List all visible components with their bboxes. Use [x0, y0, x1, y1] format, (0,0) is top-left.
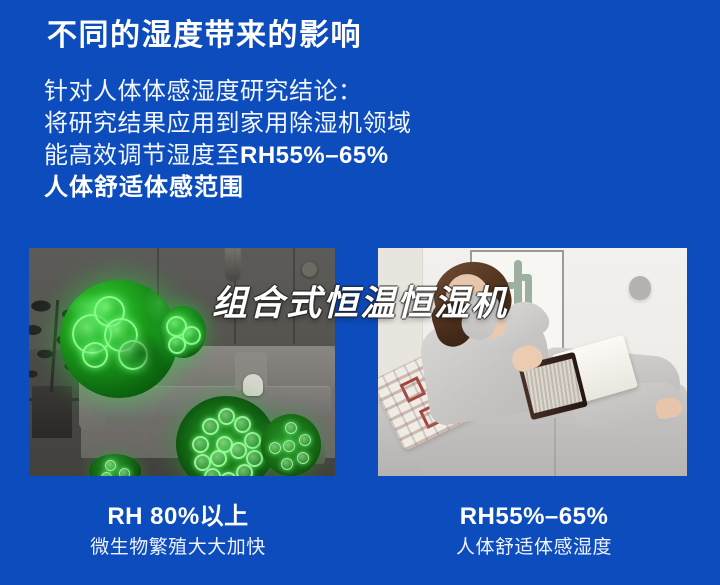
- wall-seam: [293, 248, 295, 344]
- caption-left-subtitle: 微生物繁殖大大加快: [8, 534, 348, 562]
- body-copy-block: 针对人体体感湿度研究结论： 将研究结果应用到家用除湿机领域 能高效调节湿度至RH…: [44, 76, 684, 204]
- pendant-lamp-icon: [225, 248, 241, 282]
- virus-nub: [297, 452, 309, 464]
- photo-row: [0, 248, 720, 476]
- virus-nub: [218, 408, 235, 425]
- copy-line-1: 针对人体体感湿度研究结论：: [44, 76, 684, 108]
- virus-nub: [220, 472, 237, 476]
- caption-right-title: RH55%–65%: [364, 500, 704, 534]
- pillow-motif: [399, 376, 426, 403]
- virus-nub: [101, 472, 112, 476]
- copy-line-2: 将研究结果应用到家用除湿机领域: [44, 108, 684, 140]
- wall-object-icon: [629, 276, 651, 300]
- wall-knob-icon: [302, 262, 317, 277]
- virus-nub: [299, 434, 311, 446]
- cactus-joint-right: [520, 274, 532, 281]
- virus-nub: [281, 458, 293, 470]
- heading-block: 不同的湿度带来的影响: [47, 16, 667, 56]
- microbe-sphere-edge: [160, 306, 206, 358]
- virus-nub: [230, 442, 247, 459]
- caption-left: RH 80%以上 微生物繁殖大大加快: [8, 500, 348, 562]
- photo-right-comfort-humidity: [378, 248, 687, 476]
- vase-icon: [243, 374, 263, 396]
- microbe-cell: [104, 318, 138, 352]
- light-sofa-seam: [554, 418, 556, 476]
- caption-right: RH55%–65% 人体舒适体感湿度: [364, 500, 704, 562]
- virus-nub: [236, 464, 253, 476]
- microbe-cell: [168, 336, 186, 354]
- virus-sphere-small: [261, 414, 321, 476]
- copy-line-3: 能高效调节湿度至RH55%–65%: [44, 140, 684, 172]
- page-title: 不同的湿度带来的影响: [47, 16, 667, 56]
- virus-nub: [194, 454, 211, 471]
- caption-left-title: RH 80%以上: [8, 500, 348, 534]
- copy-line-4: 人体舒适体感范围: [44, 172, 684, 204]
- microbe-cell: [94, 296, 125, 327]
- copy-line-3-normal: 能高效调节湿度至: [44, 142, 240, 169]
- microbe-cell: [118, 340, 148, 370]
- virus-nub: [244, 432, 261, 449]
- caption-row: RH 80%以上 微生物繁殖大大加快 RH55%–65% 人体舒适体感湿度: [0, 500, 720, 585]
- virus-nub: [202, 418, 219, 435]
- photo-left-high-humidity: [29, 248, 335, 476]
- virus-nub: [283, 440, 295, 452]
- virus-nub: [210, 450, 227, 467]
- virus-nub: [105, 460, 116, 471]
- caption-right-subtitle: 人体舒适体感湿度: [364, 534, 704, 562]
- microbe-cell: [82, 342, 108, 368]
- virus-nub: [192, 436, 209, 453]
- copy-line-3-highlight: RH55%–65%: [240, 142, 389, 169]
- virus-nub: [119, 468, 130, 476]
- virus-nub: [269, 442, 281, 454]
- virus-nub: [285, 422, 297, 434]
- poster-root: 不同的湿度带来的影响 针对人体体感湿度研究结论： 将研究结果应用到家用除湿机领域…: [0, 0, 720, 585]
- microbe-cell: [72, 314, 112, 354]
- virus-nub: [234, 416, 251, 433]
